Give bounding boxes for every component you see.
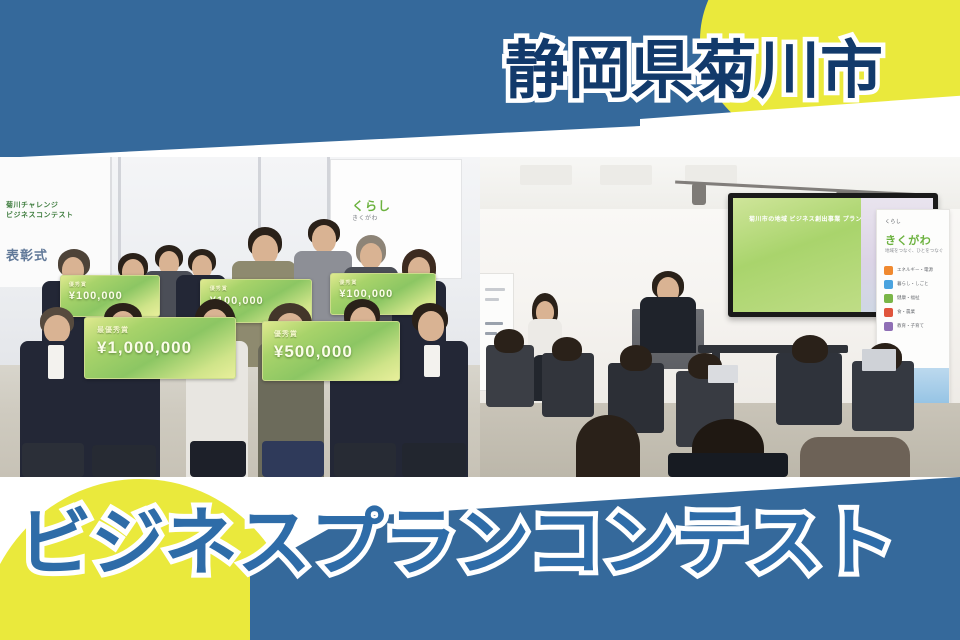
check-label: 優秀賞 xyxy=(210,285,228,292)
seated-legs xyxy=(334,443,396,477)
foreground-chair xyxy=(800,437,910,477)
audience-seat xyxy=(542,353,594,417)
banner-row: 暮らし・しごと xyxy=(884,280,942,289)
laptop xyxy=(708,365,738,383)
check-amount: ¥1,000,000 xyxy=(97,338,192,358)
laptop xyxy=(862,349,896,371)
page-title-city: 静岡県菊川市 xyxy=(505,30,945,112)
audience-hair xyxy=(552,337,582,361)
foreground-head xyxy=(576,415,640,477)
banner-text-line xyxy=(485,288,505,291)
banner-logo-text: きくがわ xyxy=(885,232,931,248)
banner-chip xyxy=(884,294,893,303)
seated-legs xyxy=(402,443,466,477)
photo-presentation-room: 菊川市の地域 ビジネス創出事業 プラン きくがわ くらし きくがわ 地域をつなぐ… xyxy=(480,157,960,477)
banner-text-line xyxy=(485,298,499,301)
audience-hair xyxy=(494,329,524,353)
foreground-shoulders xyxy=(668,453,788,477)
page-title-contest: ビジネスプランコンテスト xyxy=(18,500,948,586)
audience-hair xyxy=(620,345,652,371)
person-head xyxy=(360,243,382,269)
photo-strip: 菊川チャレンジ ビジネスコンテスト 表彰式 くらし きくがわ xyxy=(0,157,960,477)
person-shirt xyxy=(48,345,64,379)
banner-chip-label: 食・農業 xyxy=(897,309,915,315)
check-label: 最優秀賞 xyxy=(97,325,129,335)
banner-subtitle: 地域をつなぐ、ひとをつなぐ xyxy=(885,248,943,254)
banner-heading: くらし xyxy=(885,218,901,225)
check-label: 優秀賞 xyxy=(339,279,357,286)
panel-sub-text: きくがわ xyxy=(352,213,378,222)
banner-chip xyxy=(884,280,893,289)
event-banner: 静岡県菊川市 菊川チャレンジ ビジネスコンテスト 表彰式 くらし きくがわ xyxy=(0,0,960,640)
banner-chip-label: 暮らし・しごと xyxy=(897,281,929,287)
ceiling-tile xyxy=(520,165,572,185)
audience-seat xyxy=(852,361,914,431)
person-head xyxy=(418,311,444,341)
slide-background xyxy=(733,198,861,312)
seated-legs xyxy=(262,441,324,477)
seated-legs xyxy=(22,443,84,477)
audience-seat xyxy=(776,353,842,425)
backdrop-title-text: 菊川チャレンジ ビジネスコンテスト xyxy=(6,201,110,221)
banner-text-line xyxy=(485,322,503,325)
check-label: 優秀賞 xyxy=(274,329,298,339)
banner-chip-label: 健康・福祉 xyxy=(897,295,920,301)
banner-row: 食・農業 xyxy=(884,308,942,317)
photo-award-ceremony: 菊川チャレンジ ビジネスコンテスト 表彰式 くらし きくがわ xyxy=(0,157,480,477)
person-head xyxy=(312,225,336,253)
panel-logo-text: くらし xyxy=(352,197,391,214)
check-amount: ¥500,000 xyxy=(274,342,353,362)
backdrop-line-2: ビジネスコンテスト xyxy=(6,212,74,219)
banner-chip xyxy=(884,322,893,331)
seated-legs xyxy=(190,441,246,477)
banner-chip xyxy=(884,308,893,317)
stage-backdrop xyxy=(0,157,112,287)
backdrop-line-1: 菊川チャレンジ xyxy=(6,202,58,209)
prize-check-grand: 最優秀賞 ¥1,000,000 xyxy=(84,317,236,379)
audience-hair xyxy=(792,335,828,363)
person-head xyxy=(44,315,70,343)
audience-seat xyxy=(486,345,534,407)
banner-row: 教育・子育て xyxy=(884,322,942,331)
banner-chip-label: 教育・子育て xyxy=(897,323,924,329)
check-amount: ¥100,000 xyxy=(69,290,123,302)
banner-row: 健康・福祉 xyxy=(884,294,942,303)
ceiling-spotlight xyxy=(692,183,706,205)
banner-chip-label: エネルギー・電源 xyxy=(897,267,933,273)
banner-row: エネルギー・電源 xyxy=(884,266,942,275)
slide-title-text: 菊川市の地域 ビジネス創出事業 プラン xyxy=(749,216,862,225)
banner-chip xyxy=(884,266,893,275)
prize-check-second: 優秀賞 ¥500,000 xyxy=(262,321,400,381)
seated-legs xyxy=(92,445,156,477)
check-label: 優秀賞 xyxy=(69,281,87,288)
person-shirt xyxy=(424,345,440,377)
presenter-body xyxy=(640,297,696,353)
ceiling-tile xyxy=(600,165,652,185)
